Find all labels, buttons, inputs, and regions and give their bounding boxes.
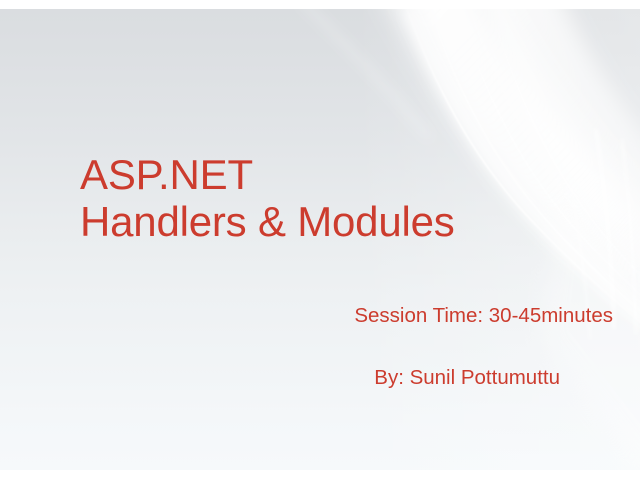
- title-line-1: ASP.NET: [80, 151, 600, 198]
- title-line-2: Handlers & Modules: [80, 198, 600, 245]
- slide-title: ASP.NET Handlers & Modules: [80, 151, 600, 245]
- top-edge-strip: [0, 0, 640, 9]
- author-byline-text: By: Sunil Pottumuttu: [0, 365, 560, 391]
- bottom-edge-strip: [0, 470, 640, 480]
- slide-subtitle: Session Time: 30-45minutes: [0, 303, 613, 329]
- title-slide: ASP.NET Handlers & Modules Session Time:…: [0, 0, 640, 480]
- slide-author: By: Sunil Pottumuttu: [0, 365, 560, 391]
- session-time-text: Session Time: 30-45minutes: [0, 303, 613, 329]
